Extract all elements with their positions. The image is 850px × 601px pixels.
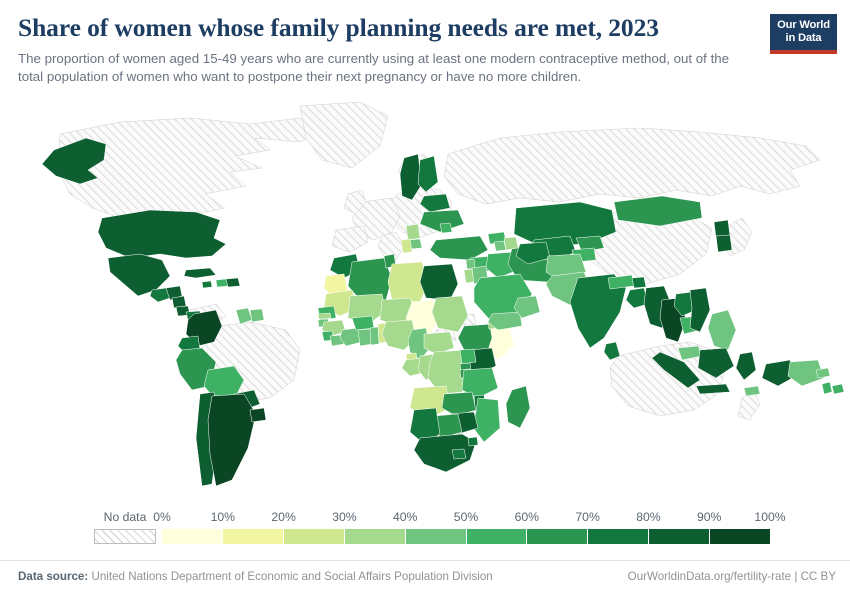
country-greenland[interactable] [300,102,388,168]
country-lebanon[interactable] [466,259,475,269]
legend-tick-100%: 100% [754,510,785,524]
legend-tick-40%: 40% [393,510,417,524]
country-togo[interactable] [370,327,379,345]
legend-bin-50-60%[interactable] [467,529,528,544]
legend-tick-20%: 20% [271,510,295,524]
country-alaska[interactable] [42,138,106,184]
country-finland[interactable] [418,156,438,192]
country-ghana[interactable] [358,329,372,346]
country-moldova[interactable] [440,223,452,233]
legend-tick-80%: 80% [636,510,660,524]
legend-bin-0-10%[interactable] [162,529,223,544]
country-jamaica[interactable] [202,281,212,288]
country-cuba[interactable] [184,268,216,278]
legend-tick-90%: 90% [697,510,721,524]
country-guyana[interactable] [236,308,252,324]
country-solomon-islands[interactable] [816,368,830,378]
country-central-african-republic[interactable] [424,332,454,354]
owid-logo-line1: Our World [777,19,830,32]
attribution-link[interactable]: OurWorldinData.org/fertility-rate | CC B… [628,570,836,583]
legend-bin-20-30%[interactable] [284,529,345,544]
country-vanuatu[interactable] [822,382,832,394]
legend-tick-labels: 0%10%20%30%40%50%60%70%80%90%100% [162,510,770,526]
country-azerbaijan[interactable] [504,237,518,250]
chart-footer: Data source: United Nations Department o… [0,560,850,601]
country-indonesia-java[interactable] [696,384,730,394]
country-madagascar[interactable] [506,386,530,428]
legend-bin-10-20%[interactable] [223,529,284,544]
map-countries-layer [42,102,844,486]
country-indonesia-sulawesi[interactable] [736,352,756,380]
chart-header: Share of women whose family planning nee… [0,0,850,87]
country-united-states[interactable] [98,210,226,258]
legend-no-data-swatch[interactable] [94,529,156,544]
owid-logo-line2: in Data [786,32,822,45]
country-uruguay[interactable] [250,408,266,422]
map-legend: No data 0%10%20%30%40%50%60%70%80%90%100… [0,505,850,555]
country-serbia[interactable] [406,224,420,240]
legend-no-data-label: No data [94,510,156,524]
country-iberia[interactable] [332,226,368,252]
legend-bin-30-40%[interactable] [345,529,406,544]
country-lesotho[interactable] [452,449,466,459]
legend-tick-30%: 30% [332,510,356,524]
country-albania[interactable] [401,239,412,253]
data-source-label: Data source: [18,570,88,583]
country-gambia[interactable] [318,313,331,319]
legend-tick-60%: 60% [515,510,539,524]
legend-tick-0%: 0% [153,510,171,524]
country-egypt[interactable] [420,264,458,300]
country-dominican-republic[interactable] [226,278,240,287]
country-fiji[interactable] [832,384,844,394]
country-argentina[interactable] [208,394,256,486]
legend-tick-50%: 50% [454,510,478,524]
legend-bin-80-90%[interactable] [649,529,710,544]
world-choropleth-map[interactable] [0,98,850,498]
country-suriname[interactable] [250,309,264,322]
country-timor-leste[interactable] [744,386,760,396]
map-svg [0,98,850,498]
owid-chart-page: Share of women whose family planning nee… [0,0,850,600]
legend-tick-70%: 70% [575,510,599,524]
country-south-africa[interactable] [414,434,476,472]
country-philippines[interactable] [708,310,736,350]
legend-bin-70-80%[interactable] [588,529,649,544]
legend-tick-10%: 10% [211,510,235,524]
country-vietnam[interactable] [690,288,710,332]
data-source-text: United Nations Department of Economic an… [91,570,492,583]
data-source: Data source: United Nations Department o… [18,570,493,583]
legend-bin-60-70%[interactable] [527,529,588,544]
country-armenia[interactable] [494,241,506,251]
country-sudan[interactable] [432,296,468,332]
legend-bin-90-100%[interactable] [710,529,770,544]
page-title: Share of women whose family planning nee… [18,14,832,43]
country-eswatini[interactable] [468,437,478,446]
country-russia[interactable] [444,128,820,204]
country-south-korea[interactable] [716,235,732,252]
legend-bin-40-50%[interactable] [406,529,467,544]
country-bhutan[interactable] [632,277,646,288]
country-turkey[interactable] [430,236,488,260]
legend-color-bar[interactable] [162,529,770,544]
country-canada[interactable] [58,118,330,218]
owid-logo[interactable]: Our World in Data [770,14,837,54]
country-uganda[interactable] [460,349,476,364]
chart-subtitle: The proportion of women aged 15-49 years… [18,50,753,88]
